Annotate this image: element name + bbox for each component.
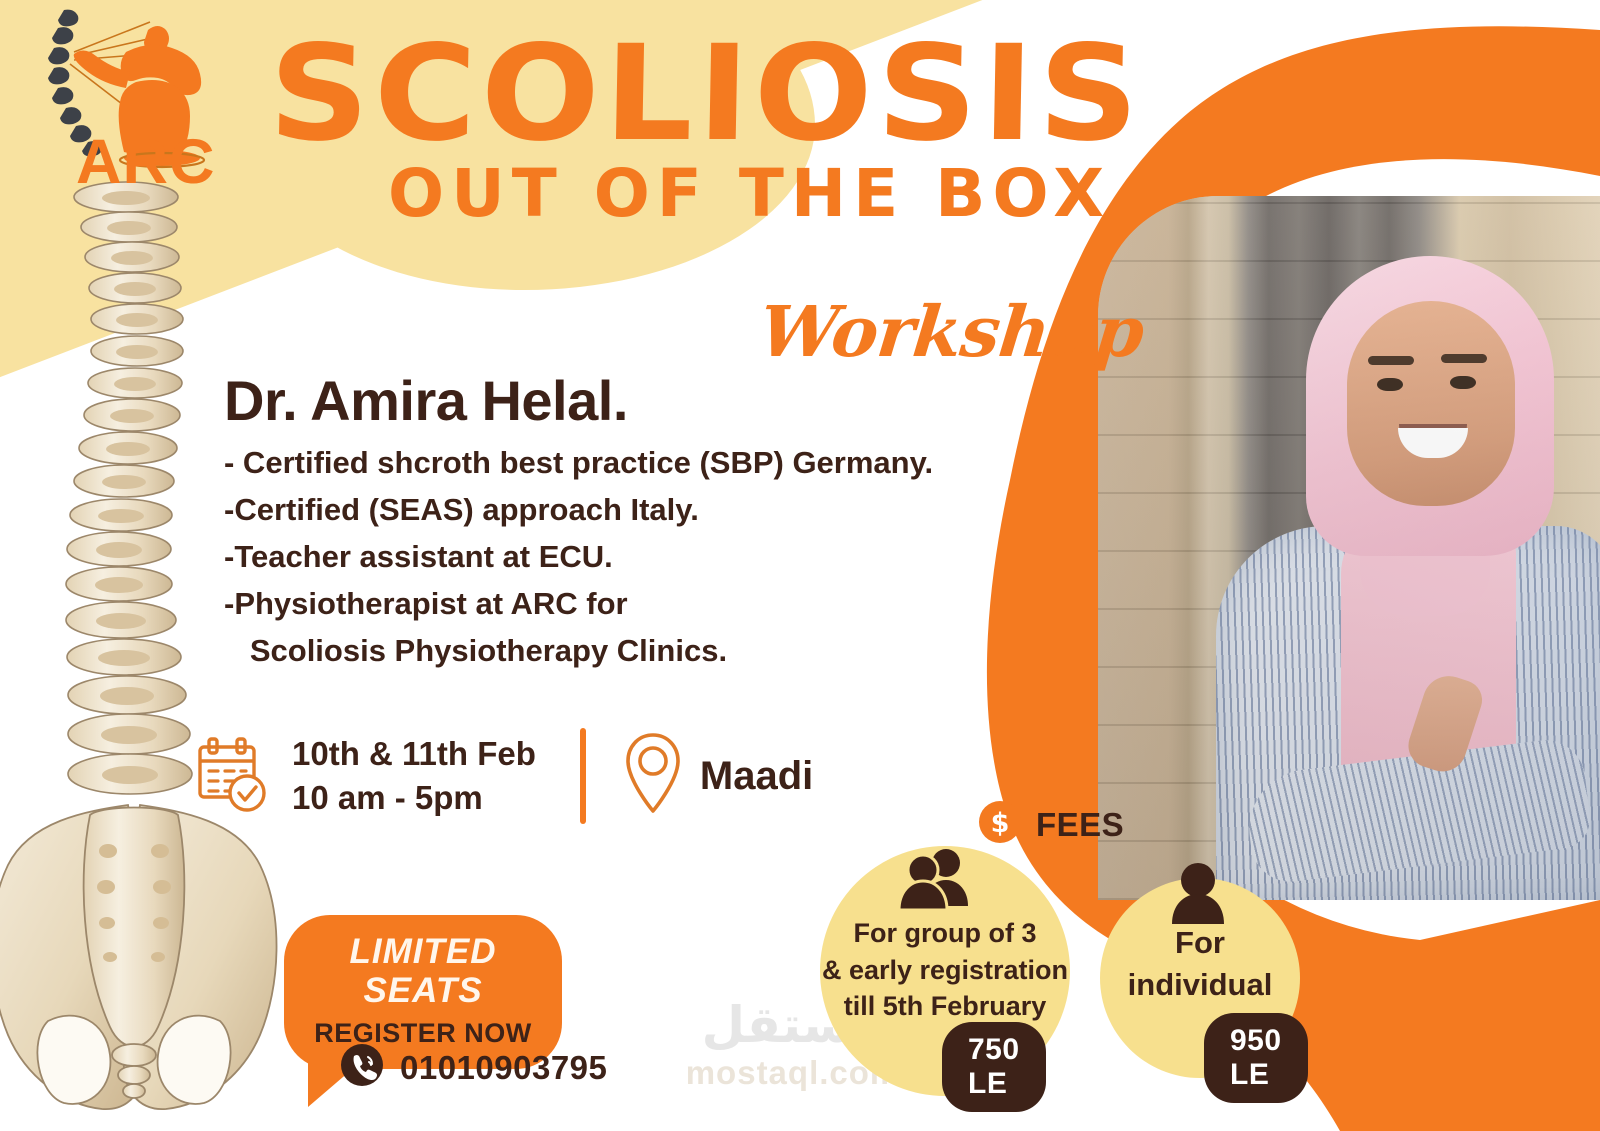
limited-seats-label: LIMITED SEATS	[310, 933, 536, 1010]
page-subtitle: OUT OF THE BOX	[388, 161, 1111, 227]
photo-shading	[1098, 196, 1600, 900]
credential-item: -Teacher assistant at ECU.	[224, 533, 1014, 580]
event-date: 10th & 11th Feb	[292, 732, 536, 776]
single-person-icon	[1166, 862, 1230, 929]
fees-label: FEES	[1036, 806, 1124, 844]
fees-heading: $ FEES	[978, 800, 1124, 849]
credential-item: - Certified shcroth best practice (SBP) …	[224, 439, 1014, 486]
svg-text:$: $	[991, 808, 1010, 839]
speaker-photo	[1098, 196, 1600, 900]
fee-price-group: 750 LE	[942, 1022, 1046, 1112]
phone-number[interactable]: 01010903795	[400, 1049, 607, 1087]
location-pin-icon	[624, 731, 682, 822]
speaker-credentials-list: - Certified shcroth best practice (SBP) …	[224, 439, 1014, 675]
event-meta-row: 10th & 11th Feb 10 am - 5pm Maadi	[196, 728, 813, 824]
speaker-name: Dr. Amira Helal.	[224, 372, 1014, 431]
event-time: 10 am - 5pm	[292, 776, 536, 820]
phone-row[interactable]: 01010903795	[340, 1043, 607, 1092]
event-location-block: Maadi	[624, 731, 813, 822]
phone-circle-icon	[340, 1043, 384, 1092]
register-cta-block[interactable]: LIMITED SEATS REGISTER NOW 01010903795	[284, 915, 584, 1069]
credential-item: -Physiotherapist at ARC for	[224, 580, 1014, 627]
meta-divider	[580, 728, 586, 824]
arc-logo-icon: ARC	[30, 8, 210, 198]
credential-item: -Certified (SEAS) approach Italy.	[224, 486, 1014, 533]
event-date-block: 10th & 11th Feb 10 am - 5pm	[196, 732, 536, 820]
arc-logo-text: ARC	[76, 131, 216, 194]
headline-block: SCOLIOSIS OUT OF THE BOX	[270, 32, 1111, 227]
credential-item: Scoliosis Physiotherapy Clinics.	[224, 627, 1014, 674]
dollar-coin-icon: $	[978, 800, 1022, 849]
workshop-script-label: Workshop	[756, 290, 1148, 373]
fee-price-individual: 950 LE	[1204, 1013, 1308, 1103]
event-location: Maadi	[700, 754, 813, 799]
group-people-icon	[896, 848, 972, 915]
fee-description-individual: For individual	[1100, 922, 1300, 1006]
page-title: SCOLIOSIS	[268, 32, 1162, 157]
fee-description-group: For group of 3 & early registration till…	[820, 915, 1070, 1025]
poster-canvas: ARC SCOLIOSIS OUT OF THE BOX Workshop Dr…	[0, 0, 1600, 1131]
calendar-check-icon	[196, 735, 270, 818]
event-date-text: 10th & 11th Feb 10 am - 5pm	[292, 732, 536, 820]
speaker-block: Dr. Amira Helal. - Certified shcroth bes…	[224, 372, 1014, 674]
